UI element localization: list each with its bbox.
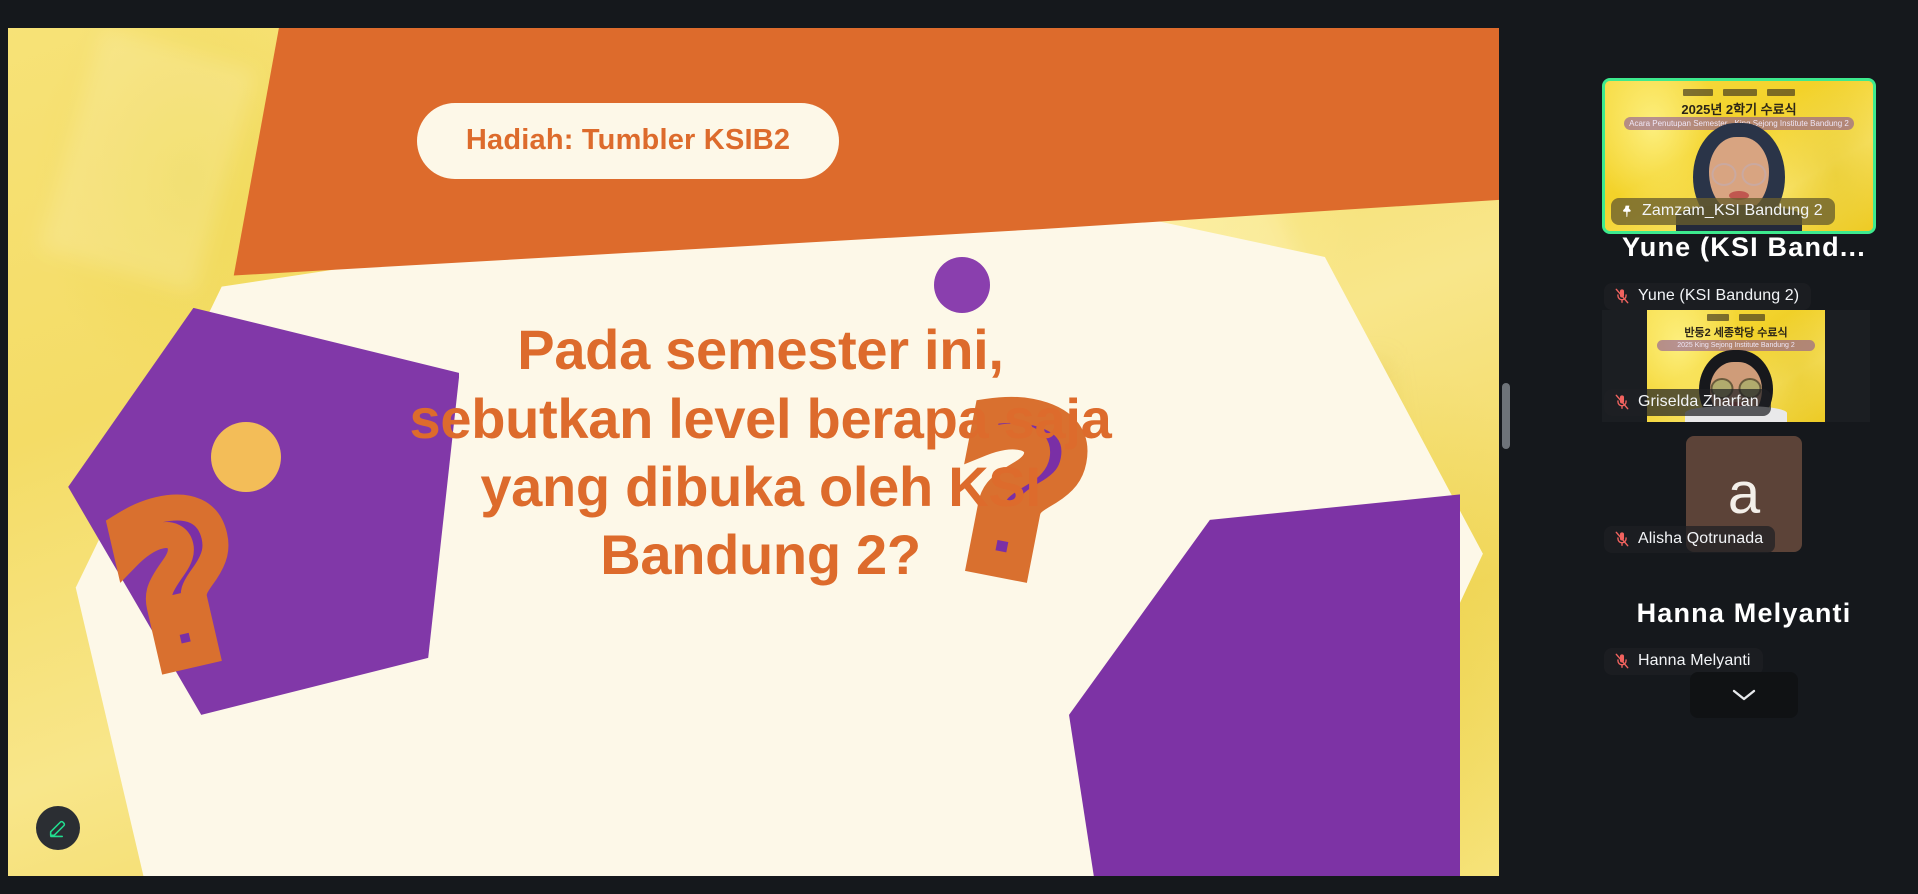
stage-scrollbar-thumb[interactable] [1502,383,1510,449]
scroll-down-button[interactable] [1690,672,1798,718]
mic-muted-icon [1613,530,1631,548]
glasses-icon [1712,163,1767,186]
annotate-button[interactable] [36,806,80,850]
participant-tile-griselda[interactable]: 반둥2 세종학당 수료식 2025 King Sejong Institute … [1602,310,1870,422]
participant-name: Yune (KSI Bandung 2) [1638,287,1799,305]
logo-chip [1723,89,1757,96]
mic-muted-icon [1613,652,1631,670]
participant-name-chip-hanna[interactable]: Hanna Melyanti [1604,648,1763,675]
mic-muted-icon [1613,393,1631,411]
video-logo-row [1605,89,1873,96]
participant-name-chip-griselda: Griselda Zharfan [1604,389,1771,416]
video-banner-title: 2025년 2학기 수료식 [1605,99,1873,118]
pin-icon [1620,204,1635,219]
active-speaker-tile[interactable]: 2025년 2학기 수료식 Acara Penutupan Semester ·… [1602,78,1876,234]
sidebar-section-title-2: Hanna Melyanti [1570,598,1918,629]
participants-sidebar[interactable]: 2025년 2학기 수료식 Acara Penutupan Semester ·… [1570,0,1918,894]
participant-name: Griselda Zharfan [1638,393,1759,411]
question-line-4: Bandung 2? [264,521,1257,589]
active-speaker-name-chip: Zamzam_KSI Bandung 2 [1611,198,1835,225]
question-line-3: yang dibuka oleh KSI [264,453,1257,521]
video-logo-row [1647,314,1825,321]
participant-name-chip-yune[interactable]: Yune (KSI Bandung 2) [1604,283,1811,310]
question-text: Pada semester ini, sebutkan level berapa… [264,316,1257,589]
participant-name: Hanna Melyanti [1638,652,1751,670]
video-banner-title: 반둥2 세종학당 수료식 [1647,324,1825,340]
presentation-slide: ? ? ? ? Hadiah: Tumbler KSIB2 Pada semes… [8,28,1513,876]
question-line-1: Pada semester ini, [264,316,1257,384]
prize-pill: Hadiah: Tumbler KSIB2 [417,103,838,179]
conference-screen: ? ? ? ? Hadiah: Tumbler KSIB2 Pada semes… [0,0,1918,894]
avatar-initial: a [1728,465,1760,523]
prize-label: Hadiah: Tumbler KSIB2 [466,124,790,157]
logo-chip [1707,314,1729,321]
logo-chip [1767,89,1795,96]
question-line-2: sebutkan level berapa saja [264,385,1257,453]
shared-screen-stage[interactable]: ? ? ? ? Hadiah: Tumbler KSIB2 Pada semes… [8,28,1513,876]
stage-scrollbar[interactable] [1499,28,1513,876]
participant-name-chip-alisha: Alisha Qotrunada [1604,526,1775,553]
logo-chip [1683,89,1713,96]
pencil-icon [47,817,69,839]
purple-circle-decoration [934,257,990,313]
active-speaker-name: Zamzam_KSI Bandung 2 [1642,202,1823,220]
logo-chip [1739,314,1765,321]
mic-muted-icon [1613,287,1631,305]
participant-name: Alisha Qotrunada [1638,530,1763,548]
sidebar-section-title-1: Yune (KSI Band... [1570,232,1918,263]
chevron-down-icon [1729,686,1759,704]
